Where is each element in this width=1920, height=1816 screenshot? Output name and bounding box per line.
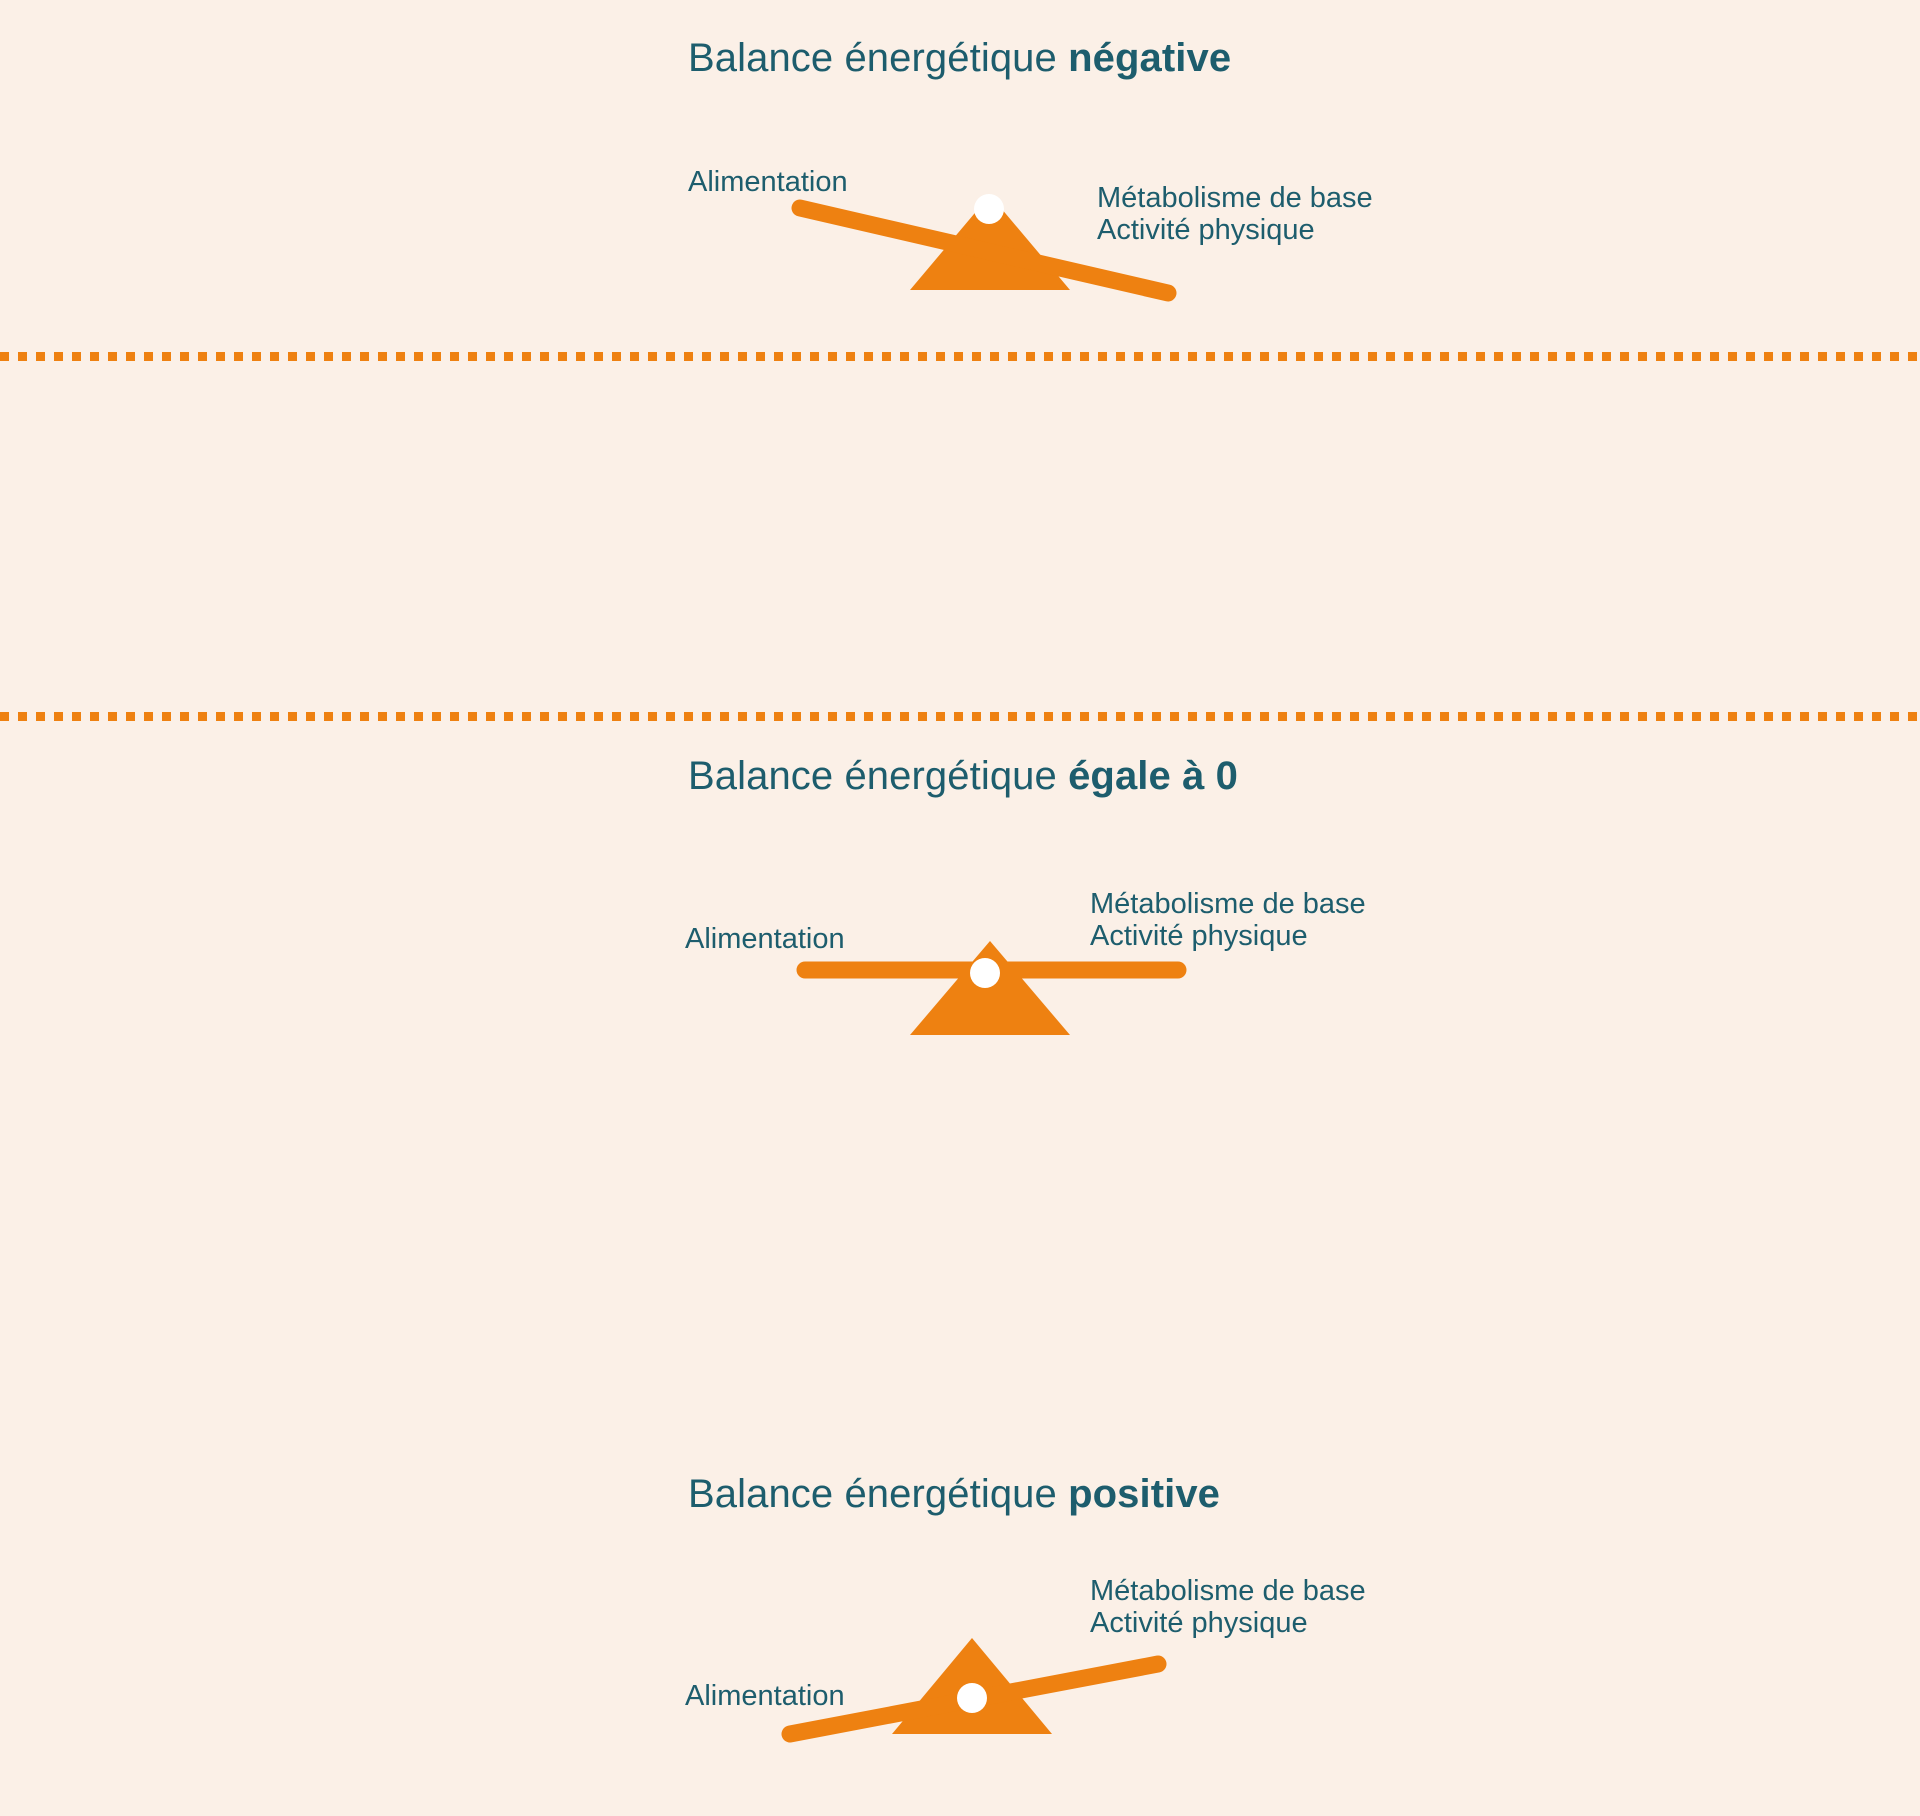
title-emphasis: positive	[1068, 1472, 1220, 1516]
label-depense-negative: Métabolisme de base Activité physique	[1097, 182, 1373, 247]
title-emphasis: négative	[1068, 36, 1231, 80]
title-prefix: Balance énergétique	[688, 36, 1057, 80]
section-title-positive: Balance énergétique positive	[688, 1472, 1220, 1517]
label-activite: Activité physique	[1090, 1607, 1366, 1639]
title-prefix: Balance énergétique	[688, 1472, 1057, 1516]
label-alimentation-negative: Alimentation	[688, 166, 848, 198]
label-activite: Activité physique	[1097, 214, 1373, 246]
pivot-circle-icon	[974, 194, 1004, 224]
label-depense-positive: Métabolisme de base Activité physique	[1090, 1575, 1366, 1640]
seesaw-negative-graphic	[0, 150, 1920, 380]
section-title-negative: Balance énergétique négative	[688, 36, 1231, 81]
label-alimentation-positive: Alimentation	[685, 1680, 845, 1712]
seesaw-negative	[0, 150, 1920, 380]
label-metabolisme: Métabolisme de base	[1090, 1575, 1366, 1607]
section-balance-negative: Balance énergétique négative Alimentatio…	[0, 0, 1920, 355]
label-text: Alimentation	[685, 1680, 845, 1712]
seesaw-positive-graphic	[0, 1586, 1920, 1816]
section-balance-equal: Balance énergétique égale à 0 Alimentati…	[0, 358, 1920, 713]
label-metabolisme: Métabolisme de base	[1097, 182, 1373, 214]
seesaw-positive	[0, 1586, 1920, 1816]
pivot-circle-icon	[957, 1683, 987, 1713]
label-text: Alimentation	[688, 166, 848, 198]
section-balance-positive: Balance énergétique positive Alimentatio…	[0, 718, 1920, 1080]
infographic-page: Balance énergétique négative Alimentatio…	[0, 0, 1920, 1080]
